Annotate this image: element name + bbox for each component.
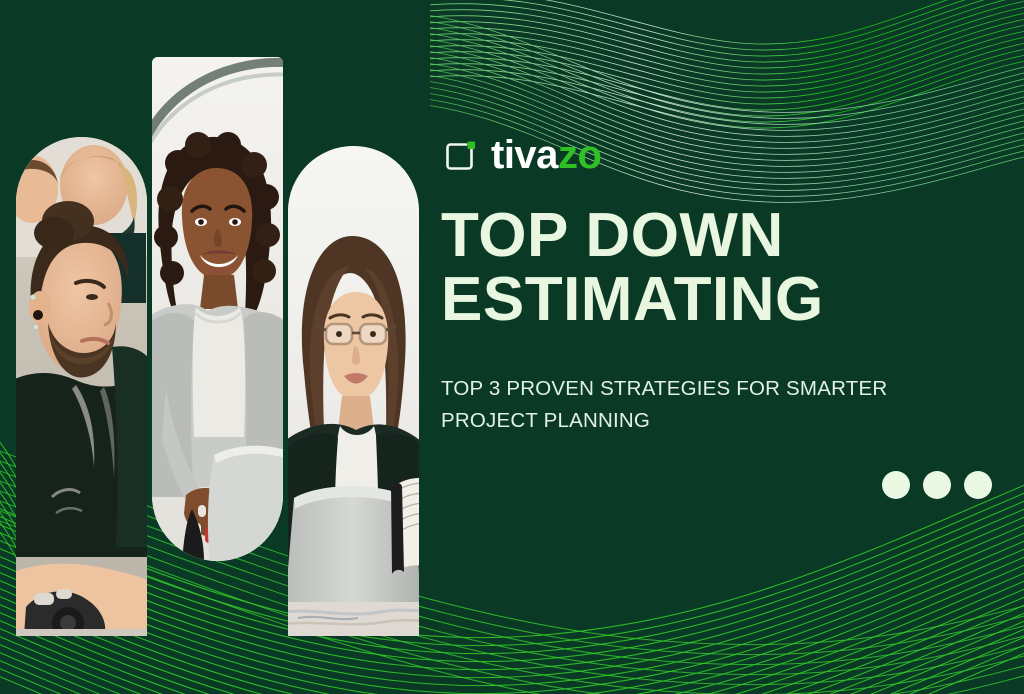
dot-3-icon xyxy=(964,471,992,499)
tivazo-bracket-icon xyxy=(441,137,478,174)
page-title: TOP DOWN ESTIMATING xyxy=(441,204,871,332)
content-column: tivazo TOP DOWN ESTIMATING TOP 3 PROVEN … xyxy=(441,132,971,457)
brand-logo[interactable]: tivazo xyxy=(441,132,971,178)
brand-wordmark: tivazo xyxy=(491,135,601,175)
presentation-banner: tivazo TOP DOWN ESTIMATING TOP 3 PROVEN … xyxy=(0,0,1024,694)
photo-woman-smiling-at-laptop-image xyxy=(152,57,283,561)
photo-woman-with-glasses-typing-image xyxy=(288,146,419,636)
page-subtitle: TOP 3 PROVEN STRATEGIES FOR SMARTER PROJ… xyxy=(441,373,913,437)
dots-decoration xyxy=(882,471,992,499)
page-title-line-1: TOP DOWN xyxy=(441,204,871,268)
page-title-line-2: ESTIMATING xyxy=(441,268,871,332)
dot-2-icon xyxy=(923,471,951,499)
dot-1-icon xyxy=(882,471,910,499)
photo-woman-with-glasses-typing xyxy=(288,146,419,636)
photo-woman-smiling-at-laptop xyxy=(152,57,283,561)
photo-team-collaborating xyxy=(16,137,147,636)
brand-wordmark-tiva: tiva xyxy=(491,133,558,177)
brand-wordmark-zo: zo xyxy=(558,133,601,177)
photo-team-collaborating-image xyxy=(16,137,147,636)
